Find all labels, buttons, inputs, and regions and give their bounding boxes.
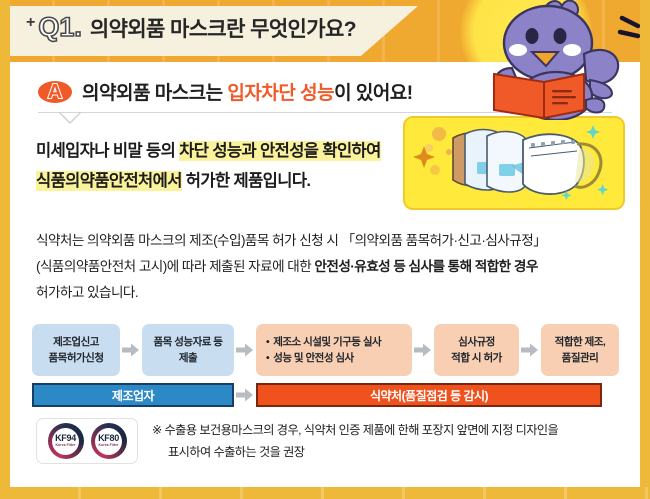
flow-step-quality-control: 적합한 제조, 품질관리 — [541, 324, 619, 376]
question-number: Q1. — [38, 12, 82, 43]
frame-right-border — [640, 0, 650, 499]
paragraph-line-1: 식약처는 의약외품 마스크의 제조(수입)품목 허가 신청 시 「의약외품 품목… — [36, 228, 626, 254]
question-title: 의약외품 마스크란 무엇인가요? — [90, 13, 356, 43]
flow-step-line: 적합한 제조, — [555, 334, 606, 350]
answer-prefix: 의약외품 마스크는 — [82, 83, 227, 104]
answer-row: A 의약외품 마스크는 입자차단 성능이 있어요! — [38, 78, 413, 105]
chevron-down-icon — [58, 112, 82, 124]
answer-badge-letter: A — [38, 79, 72, 105]
statement-line2-plain: 허가한 제품입니다. — [182, 172, 311, 190]
statement-line1-plain: 미세입자나 비말 등의 — [36, 142, 179, 160]
flow-step-line: 제출 — [179, 350, 197, 366]
footnote-text: ※ 수출용 보건용마스크의 경우, 식약처 인증 제품에 한해 포장지 앞면에 … — [152, 416, 558, 463]
statement-block: 미세입자나 비말 등의 차단 성능과 안전성을 확인하여 식품의약품안전처에서 … — [36, 136, 396, 196]
paragraph-line-2: (식품의약품안전처 고시)에 따라 제출된 자료에 대한 안전성·유효성 등 심… — [36, 254, 626, 280]
frame-left-border — [0, 0, 10, 499]
footnote-block: KF94 Korea Filter KF80 Korea Filter ※ 수출… — [36, 416, 626, 464]
answer-badge-icon: A — [38, 79, 72, 105]
kf94-label: KF94 — [55, 434, 76, 443]
flow-step-line: 품질관리 — [562, 350, 599, 366]
flow-steps-row: 제조업신고 품목허가신청 품목 성능자료 등 제출 — [32, 324, 624, 376]
kf80-badge-icon: KF80 Korea Filter — [91, 423, 127, 459]
flow-step-submit-documents: 품목 성능자료 등 제출 — [142, 324, 234, 376]
statement-line-2: 식품의약품안전처에서 허가한 제품입니다. — [36, 166, 396, 196]
paragraph-line2-bold: 안전성·유효성 등 심사를 통해 적합한 경우 — [314, 259, 537, 274]
flow-step-line: 품목허가신청 — [49, 350, 104, 366]
actor-bar-mfds: 식약처(품질점검 등 감시) — [256, 383, 602, 407]
flow-step-bullet: 성능 및 안전성 심사 — [266, 350, 354, 366]
arrow-right-icon — [120, 324, 142, 376]
mask-illustration-panel — [403, 116, 625, 210]
flow-step-inspection: 제조소 시설및 기구등 실사 성능 및 안전성 심사 — [256, 324, 412, 376]
divider-line — [38, 112, 612, 113]
paragraph-line2-plain: (식품의약품안전처 고시)에 따라 제출된 자료에 대한 — [36, 259, 314, 274]
flow-step-line: 적합 시 허가 — [451, 350, 502, 366]
kf94-badge-icon: KF94 Korea Filter — [48, 423, 84, 459]
question-row: + Q1. 의약외품 마스크란 무엇인가요? — [26, 12, 356, 43]
plus-icon: + — [26, 14, 35, 32]
arrow-right-icon — [234, 324, 256, 376]
content-card: A 의약외품 마스크는 입자차단 성능이 있어요! 미세입자나 비말 등의 차단… — [10, 62, 640, 487]
statement-line2-highlight: 식품의약품안전처에서 — [36, 171, 182, 191]
flow-actors-row: 제조업자 식약처(품질점검 등 감시) — [32, 383, 624, 407]
flow-step-line: 제조업신고 — [53, 334, 99, 350]
kf80-sublabel: Korea Filter — [98, 443, 118, 448]
kf-badges-group: KF94 Korea Filter KF80 Korea Filter — [36, 418, 138, 464]
paragraph-line-3: 허가하고 있습니다. — [36, 280, 626, 306]
approval-flow-chart: 제조업신고 품목허가신청 품목 성능자료 등 제출 — [32, 324, 624, 407]
flow-step-approval: 심사규정 적합 시 허가 — [434, 324, 519, 376]
description-paragraph: 식약처는 의약외품 마스크의 제조(수입)품목 허가 신청 시 「의약외품 품목… — [36, 228, 626, 306]
particle-dots — [413, 127, 452, 175]
footnote-line-1: ※ 수출용 보건용마스크의 경우, 식약처 인증 제품에 한해 포장지 앞면에 … — [152, 419, 558, 441]
mask-layers-icon — [405, 118, 619, 204]
sun-glow — [460, 0, 592, 62]
kf80-label: KF80 — [98, 434, 119, 443]
flow-step-line: 품목 성능자료 등 — [154, 334, 223, 350]
frame-bottom-border — [0, 487, 650, 499]
flow-step-line: 심사규정 — [458, 334, 495, 350]
infographic-page: + Q1. 의약외품 마스크란 무엇인가요? — [0, 0, 650, 499]
flow-step-bullet: 제조소 시설및 기구등 실사 — [266, 334, 381, 350]
answer-text: 의약외품 마스크는 입자차단 성능이 있어요! — [82, 78, 413, 105]
arrow-right-icon — [234, 383, 256, 407]
footnote-line-2: 표시하여 수출하는 것을 권장 — [152, 441, 558, 463]
kf94-sublabel: Korea Filter — [55, 443, 75, 448]
statement-line1-highlight: 차단 성능과 안전성을 확인하여 — [179, 141, 381, 161]
actor-bar-manufacturer: 제조업자 — [32, 383, 234, 407]
arrow-right-icon — [519, 324, 541, 376]
answer-highlight: 입자차단 성능 — [227, 83, 334, 104]
answer-suffix: 이 있어요! — [334, 83, 413, 104]
arrow-right-icon — [412, 324, 434, 376]
statement-line-1: 미세입자나 비말 등의 차단 성능과 안전성을 확인하여 — [36, 136, 396, 166]
flow-step-manufacturer-report: 제조업신고 품목허가신청 — [32, 324, 120, 376]
